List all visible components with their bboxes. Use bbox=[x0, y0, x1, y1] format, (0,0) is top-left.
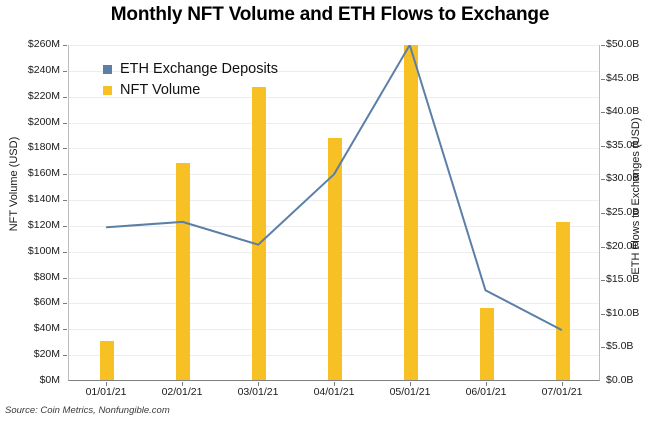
y-axis-left-tick-label: $60M bbox=[0, 296, 60, 308]
y-axis-left-tick-mark bbox=[63, 97, 67, 98]
y-axis-left-tick-mark bbox=[63, 45, 67, 46]
y-axis-right-tick-label: $5.0B bbox=[606, 340, 633, 352]
y-axis-left-tick-label: $40M bbox=[0, 322, 60, 334]
x-axis-tick-mark bbox=[258, 382, 259, 386]
y-axis-left-tick-mark bbox=[63, 329, 67, 330]
y-axis-left-tick-mark bbox=[63, 278, 67, 279]
y-axis-right-tick-mark bbox=[601, 79, 605, 80]
y-axis-left-tick-mark bbox=[63, 148, 67, 149]
x-axis-tick-mark bbox=[106, 382, 107, 386]
chart-title: Monthly NFT Volume and ETH Flows to Exch… bbox=[0, 4, 660, 26]
y-axis-left-tick-label: $260M bbox=[0, 38, 60, 50]
x-axis-tick-mark bbox=[334, 382, 335, 386]
chart-legend: ETH Exchange Deposits NFT Volume bbox=[103, 60, 278, 102]
x-axis-tick-label: 01/01/21 bbox=[66, 386, 146, 398]
legend-label: ETH Exchange Deposits bbox=[120, 61, 278, 77]
x-axis-tick-label: 04/01/21 bbox=[294, 386, 374, 398]
y-axis-right-title: ETH Flows to Exchanges (USD) bbox=[630, 116, 642, 276]
x-axis-tick-label: 06/01/21 bbox=[446, 386, 526, 398]
y-axis-left-title: NFT Volume (USD) bbox=[8, 114, 20, 254]
x-axis-tick-label: 03/01/21 bbox=[218, 386, 298, 398]
legend-swatch-icon bbox=[103, 65, 112, 74]
y-axis-left-tick-mark bbox=[63, 71, 67, 72]
x-axis-tick-mark bbox=[410, 382, 411, 386]
y-axis-right-tick-mark bbox=[601, 314, 605, 315]
y-axis-right-tick-label: $50.0B bbox=[606, 38, 639, 50]
legend-label: NFT Volume bbox=[120, 82, 200, 98]
y-axis-left-tick-label: $20M bbox=[0, 348, 60, 360]
y-axis-right-tick-mark bbox=[601, 347, 605, 348]
x-axis-tick-mark bbox=[182, 382, 183, 386]
y-axis-left-tick-mark bbox=[63, 355, 67, 356]
chart-container: Monthly NFT Volume and ETH Flows to Exch… bbox=[0, 0, 660, 426]
source-note: Source: Coin Metrics, Nonfungible.com bbox=[5, 405, 170, 416]
y-axis-left-tick-label: $220M bbox=[0, 90, 60, 102]
y-axis-left-tick-mark bbox=[63, 226, 67, 227]
legend-item-eth-exchange-deposits: ETH Exchange Deposits bbox=[103, 60, 278, 78]
y-axis-left-tick-label: $240M bbox=[0, 64, 60, 76]
y-axis-right-tick-label: $0.0B bbox=[606, 374, 633, 386]
y-axis-left-tick-label: $0M bbox=[0, 374, 60, 386]
y-axis-right-tick-mark bbox=[601, 179, 605, 180]
y-axis-right-tick-mark bbox=[601, 213, 605, 214]
y-axis-right-tick-mark bbox=[601, 280, 605, 281]
x-axis-tick-label: 07/01/21 bbox=[522, 386, 602, 398]
y-axis-right-tick-mark bbox=[601, 112, 605, 113]
y-axis-right-tick-label: $10.0B bbox=[606, 307, 639, 319]
x-axis-tick-label: 02/01/21 bbox=[142, 386, 222, 398]
y-axis-left-tick-label: $80M bbox=[0, 271, 60, 283]
y-axis-right-tick-mark bbox=[601, 146, 605, 147]
y-axis-right-tick-mark bbox=[601, 247, 605, 248]
y-axis-left-tick-mark bbox=[63, 174, 67, 175]
legend-swatch-icon bbox=[103, 86, 112, 95]
y-axis-left-tick-mark bbox=[63, 303, 67, 304]
y-axis-left-tick-mark bbox=[63, 123, 67, 124]
x-axis-tick-label: 05/01/21 bbox=[370, 386, 450, 398]
legend-item-nft-volume: NFT Volume bbox=[103, 81, 278, 99]
y-axis-right-tick-mark bbox=[601, 45, 605, 46]
y-axis-left-tick-mark bbox=[63, 200, 67, 201]
y-axis-left-tick-mark bbox=[63, 252, 67, 253]
x-axis-tick-mark bbox=[562, 382, 563, 386]
y-axis-right-tick-label: $45.0B bbox=[606, 72, 639, 84]
x-axis-tick-mark bbox=[486, 382, 487, 386]
